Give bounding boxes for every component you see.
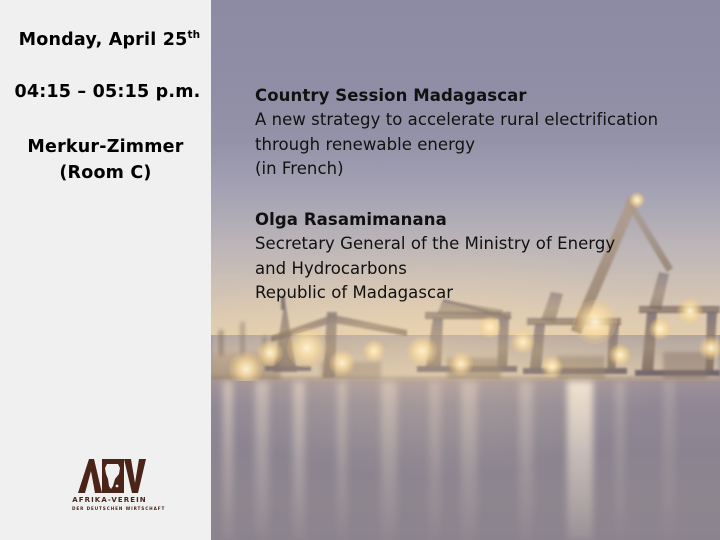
water-reflection <box>429 381 441 540</box>
event-room-name: Merkur-Zimmer <box>0 134 211 160</box>
event-room-label: (Room C) <box>0 160 211 186</box>
water-reflection <box>381 381 397 540</box>
water-reflection <box>615 381 625 540</box>
speaker-country: Republic of Madagascar <box>255 281 700 306</box>
speaker-title-line-1: Secretary General of the Ministry of Ene… <box>255 232 700 257</box>
water-reflection <box>663 381 675 540</box>
presentation-slide: Monday, April 25th 04:15 – 05:15 p.m. Me… <box>0 0 720 540</box>
session-info-block: Country Session Madagascar A new strateg… <box>255 84 700 182</box>
session-title: Country Session Madagascar <box>255 84 700 108</box>
water-reflection <box>255 381 269 540</box>
water-reflection <box>461 381 477 540</box>
speaker-title-line-2: and Hydrocarbons <box>255 257 700 282</box>
water-reflection <box>293 381 305 540</box>
event-info-panel: Monday, April 25th 04:15 – 05:15 p.m. Me… <box>0 0 211 540</box>
afrika-verein-logo: AFRIKA-VEREIN DER DEUTSCHEN WIRTSCHAFT <box>72 455 147 520</box>
session-description-line-1: A new strategy to accelerate rural elect… <box>255 108 700 133</box>
speaker-name: Olga Rasamimanana <box>255 208 700 232</box>
logo-subtitle: DER DEUTSCHEN WIRTSCHAFT <box>72 506 147 511</box>
water-reflection <box>337 381 347 540</box>
event-room: Merkur-Zimmer (Room C) <box>0 134 211 186</box>
logo-mark-icon <box>72 455 147 495</box>
water-reflection <box>567 381 593 540</box>
logo-name: AFRIKA-VEREIN <box>72 496 147 504</box>
event-time: 04:15 – 05:15 p.m. <box>0 82 213 102</box>
water-reflection <box>519 381 533 540</box>
event-date: Monday, April 25th <box>0 29 215 50</box>
event-date-text: Monday, April 25 <box>19 30 188 50</box>
event-date-suffix: th <box>187 29 200 41</box>
session-language-note: (in French) <box>255 157 700 182</box>
session-description-line-2: through renewable energy <box>255 133 700 158</box>
water-reflection <box>223 381 233 540</box>
speaker-info-block: Olga Rasamimanana Secretary General of t… <box>255 208 700 306</box>
